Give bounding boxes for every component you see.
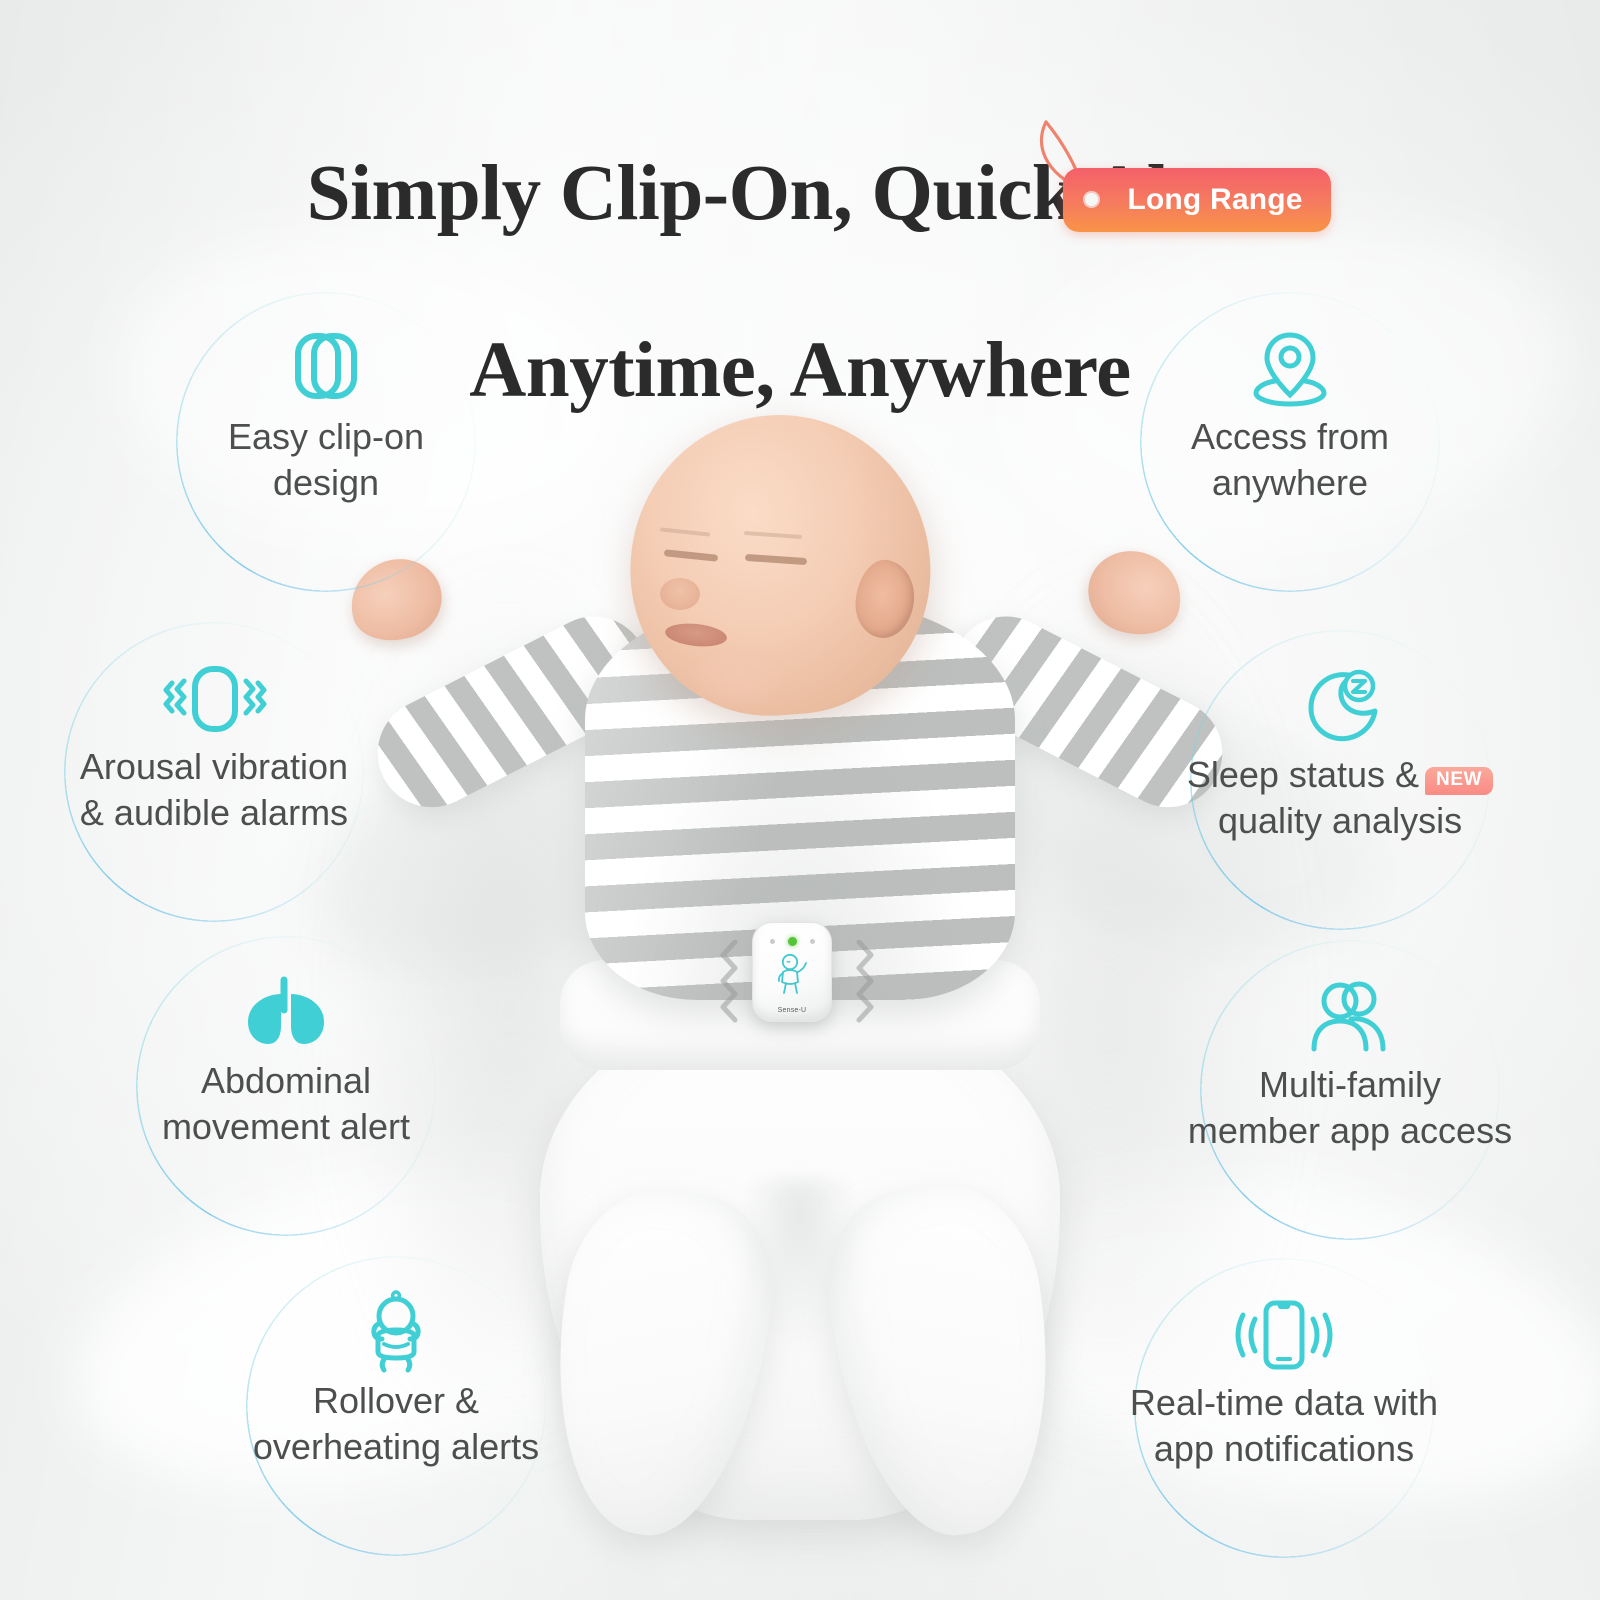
long-range-tag-body: Long Range [1063, 168, 1331, 232]
feature-easy-clip-on[interactable]: Easy clip-on design [176, 292, 476, 592]
vibration-zigzag-left-icon [716, 940, 742, 1026]
feature-label: Arousal vibration & audible alarms [0, 744, 434, 836]
feature-label: Real-time data with app notifications [1064, 1380, 1504, 1472]
feature-abdominal-movement[interactable]: Abdominal movement alert [136, 936, 436, 1236]
feature-access-anywhere[interactable]: Access from anywhere [1140, 292, 1440, 592]
vibration-zigzag-right-icon [852, 940, 878, 1026]
feature-label: Abdominal movement alert [66, 1058, 506, 1150]
device-brand-label: Sense-U [753, 1007, 831, 1014]
feature-label: Multi-family member app access [1130, 1062, 1570, 1154]
phone-signal-icon [1134, 1292, 1434, 1378]
feature-sleep-status[interactable]: Sleep status &NEW quality analysis [1190, 630, 1490, 930]
feature-label-line-2: quality analysis [1218, 800, 1462, 841]
long-range-tag-label: Long Range [1091, 183, 1302, 217]
baby-nose [660, 578, 700, 610]
baby-cheek [690, 650, 786, 712]
device-led-green [788, 937, 797, 946]
feature-real-time-data[interactable]: Real-time data with app notifications [1134, 1258, 1434, 1558]
feature-label-line-1: Sleep status & [1187, 754, 1419, 795]
long-range-tag: Long Range [1063, 168, 1331, 232]
lungs-icon [136, 970, 436, 1056]
two-people-icon [1200, 974, 1500, 1060]
feature-label: Easy clip-on design [106, 414, 546, 506]
device-indicator-left [770, 939, 775, 944]
location-pin-icon [1140, 326, 1440, 412]
moon-z-icon [1190, 664, 1490, 750]
feature-label: Rollover & overheating alerts [176, 1378, 616, 1470]
infographic-canvas: Sense-U Simply Clip-On, Quick Alerts Any… [0, 0, 1600, 1600]
device-indicator-right [810, 939, 815, 944]
feature-rollover-overheating[interactable]: Rollover & overheating alerts [246, 1256, 546, 1556]
tag-hole [1083, 191, 1100, 208]
feature-label: Access from anywhere [1070, 414, 1510, 506]
device-baby-logo-icon [771, 953, 813, 999]
baby-figure-icon [246, 1290, 546, 1376]
feature-label: Sleep status &NEW quality analysis [1120, 752, 1560, 844]
feature-arousal-vibration[interactable]: Arousal vibration & audible alarms [64, 622, 364, 922]
pants-fold [745, 1180, 855, 1350]
feature-multi-family[interactable]: Multi-family member app access [1200, 940, 1500, 1240]
vibrating-device-icon [64, 656, 364, 742]
title-line-1: Simply Clip-On, Quick Alerts [0, 150, 1600, 238]
clip-device-icon [176, 326, 476, 412]
new-badge: NEW [1425, 767, 1493, 795]
title-line-2: Anytime, Anywhere [469, 327, 1131, 415]
sense-u-monitor-device: Sense-U [752, 922, 832, 1022]
